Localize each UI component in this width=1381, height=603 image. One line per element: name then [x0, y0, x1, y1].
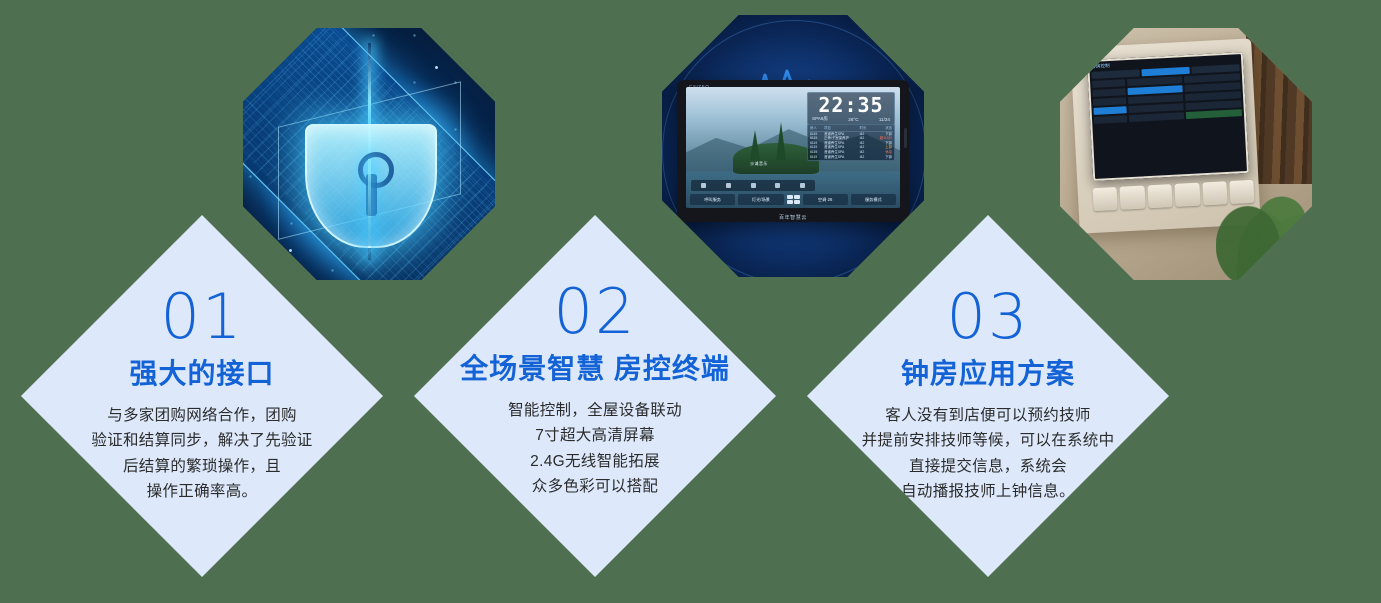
- control-tablet: CSIZEO 22:35 SPA6房 26°C: [677, 80, 909, 222]
- card-3-description: 客人没有到店便可以预约技师 并提前安排技师等候，可以在系统中 直接提交信息，系统…: [862, 403, 1115, 503]
- card-3-title: 钟房应用方案: [901, 357, 1075, 391]
- booking-table: 房人 项目 时长 状态 6119 音道养生SPA I42 下钟: [807, 124, 895, 161]
- menu-item-schedule[interactable]: [1186, 109, 1242, 119]
- key-add-clock[interactable]: [1093, 97, 1126, 106]
- tree-shape: [750, 130, 760, 160]
- card-2-title-line: 房控终端: [614, 353, 730, 384]
- desc-line: 并提前安排技师等候，可以在系统中: [862, 428, 1115, 453]
- th-status: 状态: [874, 126, 893, 131]
- desc-line: 直接提交信息，系统会: [862, 454, 1115, 479]
- menu-item[interactable]: [1128, 94, 1184, 104]
- menu-item[interactable]: [1127, 76, 1183, 86]
- physical-button[interactable]: [1120, 186, 1146, 210]
- desc-line: 与多家团购网络合作，团购: [91, 403, 312, 428]
- desc-line: 众多色彩可以搭配: [508, 474, 682, 499]
- desc-line: 后结算的繁琐操作，且: [91, 454, 312, 479]
- tablet-side-button[interactable]: [904, 128, 907, 148]
- card-3-title-line: 钟房应用方案: [901, 358, 1075, 389]
- key-point-clock-2[interactable]: [1094, 115, 1127, 124]
- button-air-conditioner[interactable]: 空调·26: [803, 194, 848, 205]
- th-room: 房人: [809, 126, 823, 131]
- card-3: 03 钟房应用方案 客人没有到店便可以预约技师 并提前安排技师等候，可以在系统中…: [807, 215, 1169, 577]
- menu-item[interactable]: [1129, 112, 1185, 122]
- card-2-description: 智能控制，全屋设备联动 7寸超大高清屏幕 2.4G无线智能拓展 众多色彩可以搭配: [508, 398, 682, 498]
- card-1-title-line: 强大的接口: [129, 358, 274, 389]
- menu-item[interactable]: [1185, 73, 1241, 83]
- cell-duration: I42: [859, 155, 875, 160]
- tablet-button-bar[interactable]: 呼叫服务 灯光/场景 空调·26 服务模式: [690, 194, 896, 205]
- tab-tech-manage[interactable]: [1192, 64, 1240, 74]
- key-point-clock[interactable]: [1092, 79, 1125, 88]
- card-2-number: 02: [554, 283, 637, 342]
- plant-foliage: [1216, 154, 1312, 280]
- desc-line: 2.4G无线智能拓展: [508, 449, 682, 474]
- clock-widget: 22:35 SPA6房 26°C 11/24: [807, 92, 895, 125]
- tablet-screen[interactable]: 22:35 SPA6房 26°C 11/24 房人 项目 时长: [686, 87, 900, 208]
- card-1-title: 强大的接口: [129, 357, 274, 391]
- desc-line: 7寸超大高清屏幕: [508, 423, 682, 448]
- next-icon[interactable]: [775, 183, 780, 188]
- button-service-mode[interactable]: 服务模式: [851, 194, 896, 205]
- scene-label: 沙滩音乐: [750, 161, 768, 167]
- physical-button[interactable]: [1174, 183, 1200, 207]
- desc-line: 客人没有到店便可以预约技师: [862, 403, 1115, 428]
- menu-item[interactable]: [1128, 103, 1184, 113]
- table-row: 6119 音道养生SPA I42 下钟: [809, 155, 893, 160]
- promo-banner: CSIZEO 22:35 SPA6房 26°C: [0, 0, 1381, 603]
- panel-menu-left[interactable]: [1127, 76, 1185, 122]
- card-3-number: 03: [947, 288, 1030, 347]
- room-label: SPA6房: [812, 116, 828, 122]
- physical-button[interactable]: [1147, 184, 1173, 208]
- button-lighting-scene[interactable]: 灯光/场景: [738, 194, 783, 205]
- tab-room-info[interactable]: [1092, 69, 1140, 79]
- card-2: 02 全场景智慧 房控终端 智能控制，全屋设备联动 7寸超大高清屏幕 2.4G无…: [414, 215, 776, 577]
- mute-icon[interactable]: [800, 183, 805, 188]
- desc-line: 操作正确率高。: [91, 479, 312, 504]
- cell-status: 下钟: [874, 155, 893, 160]
- desc-line: 智能控制，全屋设备联动: [508, 398, 682, 423]
- card-1-body: 01 强大的接口 与多家团购网络合作，团购 验证和结算同步，解决了先验证 后结算…: [32, 288, 372, 503]
- cyber-shield-illustration: [243, 28, 495, 280]
- card-1-number: 01: [161, 288, 244, 347]
- tree-shape: [776, 122, 786, 160]
- wall-panel-photo: 客房控制: [1060, 28, 1312, 280]
- desc-line: 验证和结算同步，解决了先验证: [91, 428, 312, 453]
- apps-grid-icon[interactable]: [787, 195, 800, 204]
- clock-meta: SPA6房 26°C 11/24: [811, 116, 891, 122]
- button-call-service[interactable]: 呼叫服务: [690, 194, 735, 205]
- physical-button[interactable]: [1092, 187, 1118, 211]
- menu-item-selected[interactable]: [1127, 85, 1183, 95]
- menu-item[interactable]: [1186, 100, 1242, 110]
- tablet-footer-brand: 百年智慧云: [677, 214, 909, 221]
- date-value: 11/24: [879, 117, 890, 122]
- smart-tablet-illustration: CSIZEO 22:35 SPA6房 26°C: [662, 15, 924, 277]
- light-beam-bottom: [368, 159, 371, 260]
- th-duration: 时长: [859, 126, 875, 131]
- card-image-3: 客房控制: [1008, 0, 1364, 332]
- tab-service-call[interactable]: [1142, 67, 1190, 77]
- temperature-value: 26°C: [848, 116, 858, 121]
- media-controls[interactable]: [691, 180, 815, 191]
- card-2-title: 全场景智慧 房控终端: [460, 352, 730, 386]
- panel-left-keys[interactable]: [1092, 79, 1127, 124]
- key-call-clock[interactable]: [1093, 88, 1126, 97]
- menu-item[interactable]: [1186, 91, 1242, 101]
- menu-item[interactable]: [1185, 82, 1241, 92]
- panel-grid: [1092, 73, 1242, 124]
- cell-room: 6119: [809, 155, 823, 160]
- cell-item: 音道养生SPA: [823, 155, 858, 160]
- th-item: 项目: [823, 126, 858, 131]
- key-change-tech[interactable]: [1094, 106, 1127, 115]
- clock-time: 22:35: [811, 95, 891, 115]
- volume-icon[interactable]: [701, 183, 706, 188]
- card-2-body: 02 全场景智慧 房控终端 智能控制，全屋设备联动 7寸超大高清屏幕 2.4G无…: [425, 283, 765, 498]
- play-icon[interactable]: [751, 183, 756, 188]
- panel-menu-right[interactable]: [1185, 73, 1243, 119]
- prev-icon[interactable]: [726, 183, 731, 188]
- desc-line: 自动播报技师上钟信息。: [862, 479, 1115, 504]
- card-1-description: 与多家团购网络合作，团购 验证和结算同步，解决了先验证 后结算的繁琐操作，且 操…: [91, 403, 312, 503]
- card-2-title-line: 全场景智慧: [460, 353, 605, 384]
- card-3-body: 03 钟房应用方案 客人没有到店便可以预约技师 并提前安排技师等候，可以在系统中…: [818, 288, 1158, 503]
